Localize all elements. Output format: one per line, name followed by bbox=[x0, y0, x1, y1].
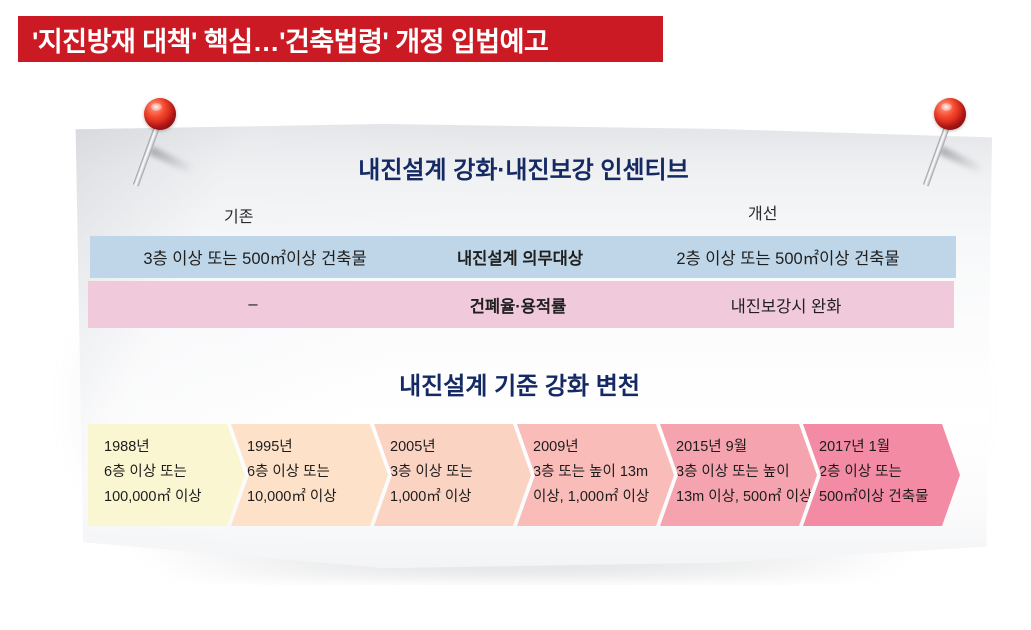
timeline-line2-2017: 2층 이상 또는 bbox=[819, 460, 960, 485]
timeline-year-1988: 1988년 bbox=[104, 435, 245, 460]
timeline-item-2015: 2015년 9월 3층 이상 또는 높이 13m 이상, 500㎡ 이상 bbox=[660, 424, 817, 526]
timeline-line3-2015: 13m 이상, 500㎡ 이상 bbox=[676, 485, 817, 510]
cell-existing-ratio: – bbox=[88, 295, 418, 314]
cell-criterion-ratio: 건폐율·용적률 bbox=[418, 293, 618, 317]
timeline-line3-1995: 10,000㎡ 이상 bbox=[247, 485, 388, 510]
timeline-line2-2005: 3층 이상 또는 bbox=[390, 460, 531, 485]
cell-improved-ratio: 내진보강시 완화 bbox=[618, 293, 954, 317]
timeline-line2-1995: 6층 이상 또는 bbox=[247, 460, 388, 485]
timeline-line3-1988: 100,000㎡ 이상 bbox=[104, 485, 245, 510]
timeline-line2-2015: 3층 이상 또는 높이 bbox=[676, 460, 817, 485]
bottom-white-margin bbox=[0, 585, 1031, 630]
timeline-line3-2005: 1,000㎡ 이상 bbox=[390, 485, 531, 510]
timeline-line2-2009: 3층 또는 높이 13m bbox=[533, 460, 674, 485]
section-heading-incentive: 내진설계 강화·내진보강 인센티브 bbox=[8, 150, 1031, 185]
timeline-line3-2009: 이상, 1,000㎡ 이상 bbox=[533, 485, 674, 510]
timeline-year-2017: 2017년 1월 bbox=[819, 435, 960, 460]
cell-existing-mandatory: 3층 이상 또는 500㎡이상 건축물 bbox=[90, 245, 420, 269]
timeline-item-1995: 1995년 6층 이상 또는 10,000㎡ 이상 bbox=[231, 424, 388, 526]
timeline-line2-1988: 6층 이상 또는 bbox=[104, 460, 245, 485]
timeline-year-2005: 2005년 bbox=[390, 435, 531, 460]
table-row-mandatory-target: 3층 이상 또는 500㎡이상 건축물 내진설계 의무대상 2층 이상 또는 5… bbox=[90, 236, 956, 278]
timeline-item-2009: 2009년 3층 또는 높이 13m 이상, 1,000㎡ 이상 bbox=[517, 424, 674, 526]
timeline-year-2009: 2009년 bbox=[533, 435, 674, 460]
cell-criterion-mandatory: 내진설계 의무대상 bbox=[420, 245, 620, 269]
timeline-year-2015: 2015년 9월 bbox=[676, 435, 817, 460]
column-label-existing: 기존 bbox=[224, 203, 253, 227]
cell-improved-mandatory: 2층 이상 또는 500㎡이상 건축물 bbox=[620, 245, 956, 269]
timeline-year-1995: 1995년 bbox=[247, 435, 388, 460]
table-row-floor-area-ratio: – 건폐율·용적률 내진보강시 완화 bbox=[88, 281, 954, 328]
section-heading-timeline: 내진설계 기준 강화 변천 bbox=[4, 366, 1031, 401]
timeline-item-2005: 2005년 3층 이상 또는 1,000㎡ 이상 bbox=[374, 424, 531, 526]
timeline-item-2017: 2017년 1월 2층 이상 또는 500㎡이상 건축물 bbox=[803, 424, 960, 526]
timeline-item-1988: 1988년 6층 이상 또는 100,000㎡ 이상 bbox=[88, 424, 245, 526]
column-label-improved: 개선 bbox=[748, 200, 777, 224]
infographic-content: 내진설계 강화·내진보강 인센티브 기존 개선 3층 이상 또는 500㎡이상 … bbox=[0, 0, 1031, 630]
timeline-line3-2017: 500㎡이상 건축물 bbox=[819, 485, 960, 510]
timeline-chevrons: 1988년 6층 이상 또는 100,000㎡ 이상 1995년 6층 이상 또… bbox=[88, 424, 960, 526]
